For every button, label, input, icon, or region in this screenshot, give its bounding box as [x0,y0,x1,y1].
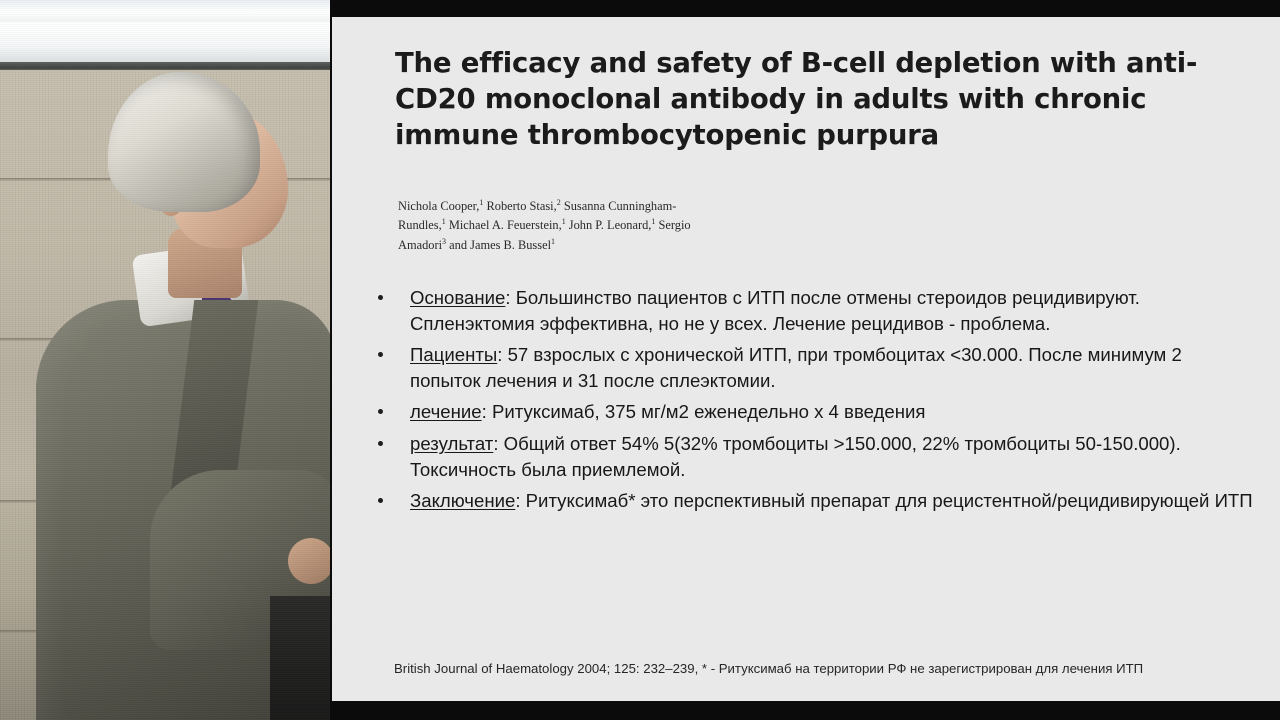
bullet-text: : Ритуксимаб* это перспективный препарат… [515,490,1252,511]
lecture-video-feed [0,0,330,720]
author-list: Nichola Cooper,1 Roberto Stasi,2 Susanna… [398,195,718,253]
projection-screen [0,22,330,64]
presentation-slide: The efficacy and safety of B-cell deplet… [332,17,1280,701]
bullet-dot-icon [378,409,383,414]
bullet-label: лечение [410,401,482,422]
bullet-text: : Ритуксимаб, 375 мг/м2 еженедельно х 4 … [482,401,926,422]
bullet-label: Пациенты [410,344,497,365]
screen-root: The efficacy and safety of B-cell deplet… [0,0,1280,720]
bullet-label: результат [410,433,493,454]
bullet-item: лечение: Ритуксимаб, 375 мг/м2 еженедель… [376,399,1256,425]
bullet-dot-icon [378,441,383,446]
ceiling-band [0,0,330,22]
bullet-text: : Большинство пациентов с ИТП после отме… [410,287,1140,334]
bullet-text: : 57 взрослых с хронической ИТП, при тро… [410,344,1182,391]
bullet-text: : Общий ответ 54% 5(32% тромбоциты >150.… [410,433,1181,480]
bullet-item: Основание: Большинство пациентов с ИТП п… [376,285,1256,336]
bullet-dot-icon [378,352,383,357]
bullet-item: результат: Общий ответ 54% 5(32% тромбоц… [376,431,1256,482]
slide-bullet-list: Основание: Большинство пациентов с ИТП п… [376,285,1256,520]
bullet-item: Пациенты: 57 взрослых с хронической ИТП,… [376,342,1256,393]
bullet-item: Заключение: Ритуксимаб* это перспективны… [376,488,1256,514]
bullet-dot-icon [378,295,383,300]
bullet-label: Заключение [410,490,515,511]
slide-letterbox: The efficacy and safety of B-cell deplet… [330,0,1280,720]
slide-footer-citation: British Journal of Haematology 2004; 125… [394,660,1274,677]
speaker-hand [288,538,330,584]
bullet-label: Основание [410,287,505,308]
bullet-dot-icon [378,498,383,503]
podium [270,596,330,720]
slide-title: The efficacy and safety of B-cell deplet… [395,45,1250,153]
